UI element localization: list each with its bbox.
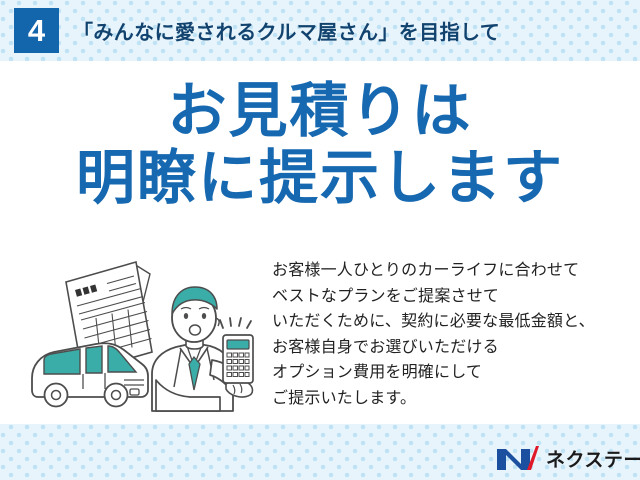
body-copy-line: いただくために、契約に必要な最低金額と、 (272, 308, 622, 334)
headline-line-2: 明瞭に提示します (0, 148, 640, 209)
calculator-icon (223, 335, 253, 383)
brand-logo-text: ネクステージ (546, 445, 640, 472)
headline-line-1: お見積りは (0, 81, 640, 142)
header-title: 「みんなに愛されるクルマ屋さん」を目指して (73, 16, 500, 45)
content-panel: お見積りは 明瞭に提示します お客様一人ひとりのカーライフに合わせて ベストなプ… (0, 61, 640, 424)
body-copy-line: お客様自身でお選びいただける (272, 334, 622, 360)
illustration (24, 256, 264, 421)
mouth (190, 325, 201, 335)
sparkle-icon (220, 318, 251, 328)
section-number-badge: 4 (14, 8, 59, 53)
promo-slide: 4 「みんなに愛されるクルマ屋さん」を目指して お見積りは 明瞭に提示します お… (0, 0, 640, 480)
body-copy-line: ご提示いたします。 (272, 385, 622, 411)
eye-right (202, 313, 206, 319)
body-copy-line: オプション費用を明確にして (272, 359, 622, 385)
body-copy-line: お客様一人ひとりのカーライフに合わせて (272, 257, 622, 283)
body-copy: お客様一人ひとりのカーライフに合わせて ベストなプランをご提案させて いただくた… (272, 257, 622, 411)
illustration-svg (24, 256, 264, 421)
body-copy-line: ベストなプランをご提案させて (272, 283, 622, 309)
header-bar: 4 「みんなに愛されるクルマ屋さん」を目指して (0, 0, 640, 61)
nextage-n-mark-icon (497, 446, 539, 471)
eye-left (184, 313, 188, 319)
headline: お見積りは 明瞭に提示します (0, 81, 640, 209)
calculator-display (227, 340, 249, 349)
brand-logo: ネクステージ (497, 444, 640, 472)
